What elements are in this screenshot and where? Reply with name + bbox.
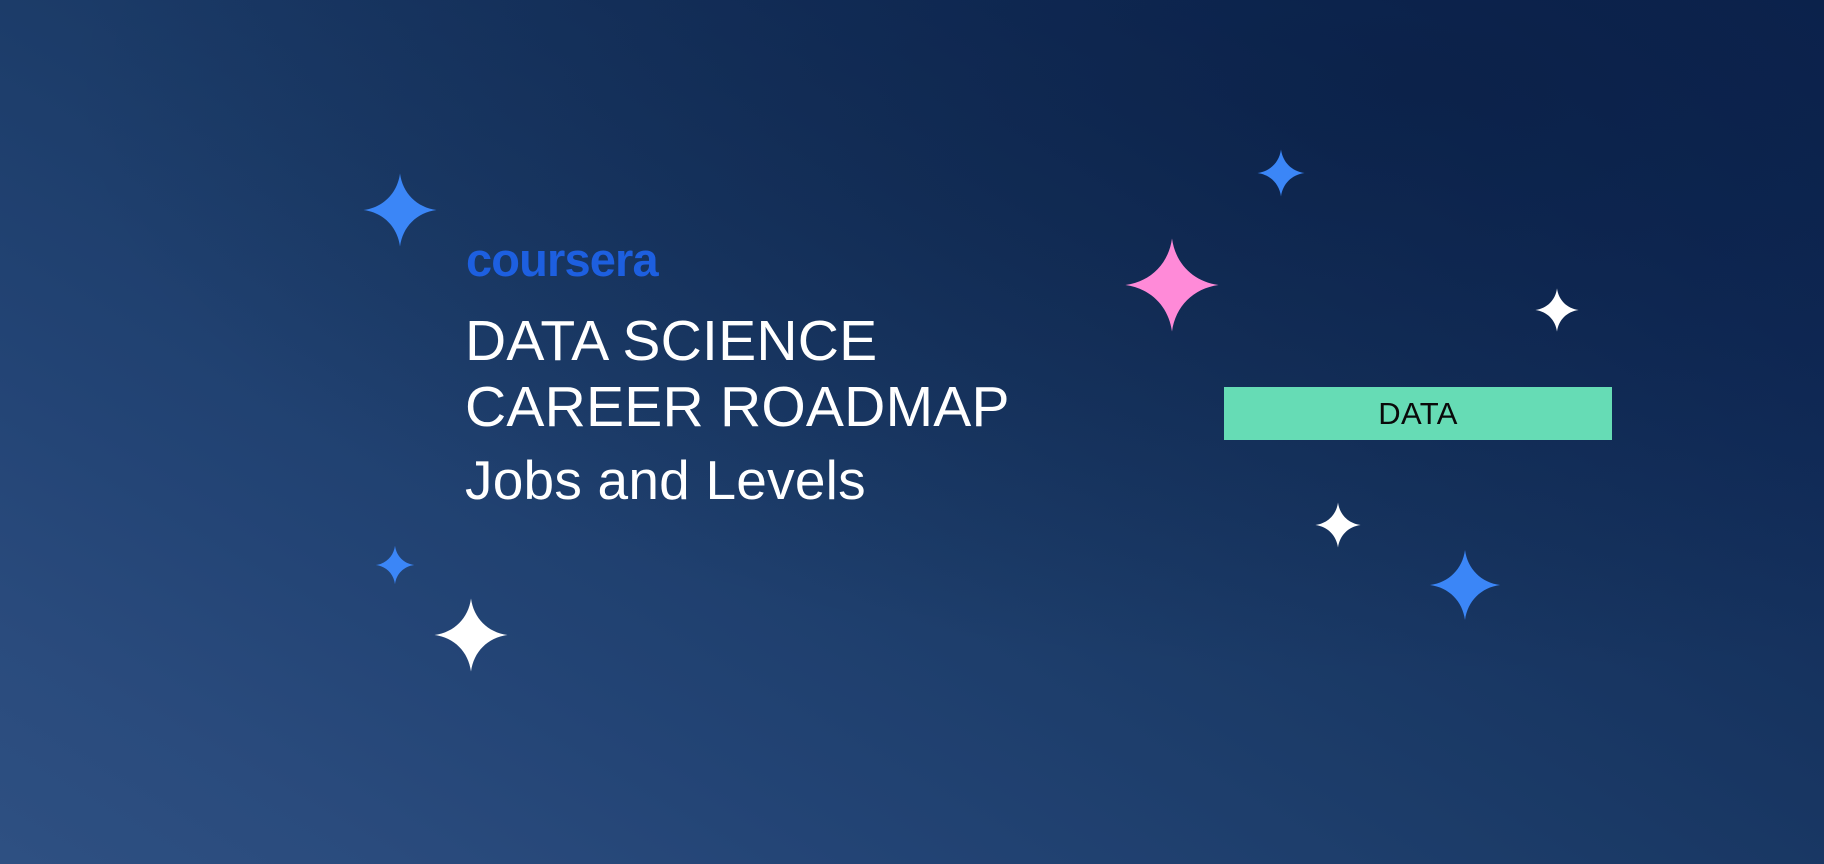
data-banner-label: DATA — [1378, 398, 1458, 429]
title-block: coursera DATA SCIENCE CAREER ROADMAP Job… — [465, 236, 1085, 512]
data-banner: DATA — [1224, 387, 1612, 440]
headline-line-1: DATA SCIENCE — [465, 309, 1085, 375]
headline-subtitle: Jobs and Levels — [465, 449, 1085, 513]
slide-canvas: coursera DATA SCIENCE CAREER ROADMAP Job… — [0, 0, 1824, 864]
coursera-logo: coursera — [466, 236, 1085, 283]
headline-line-2: CAREER ROADMAP — [465, 375, 1085, 441]
